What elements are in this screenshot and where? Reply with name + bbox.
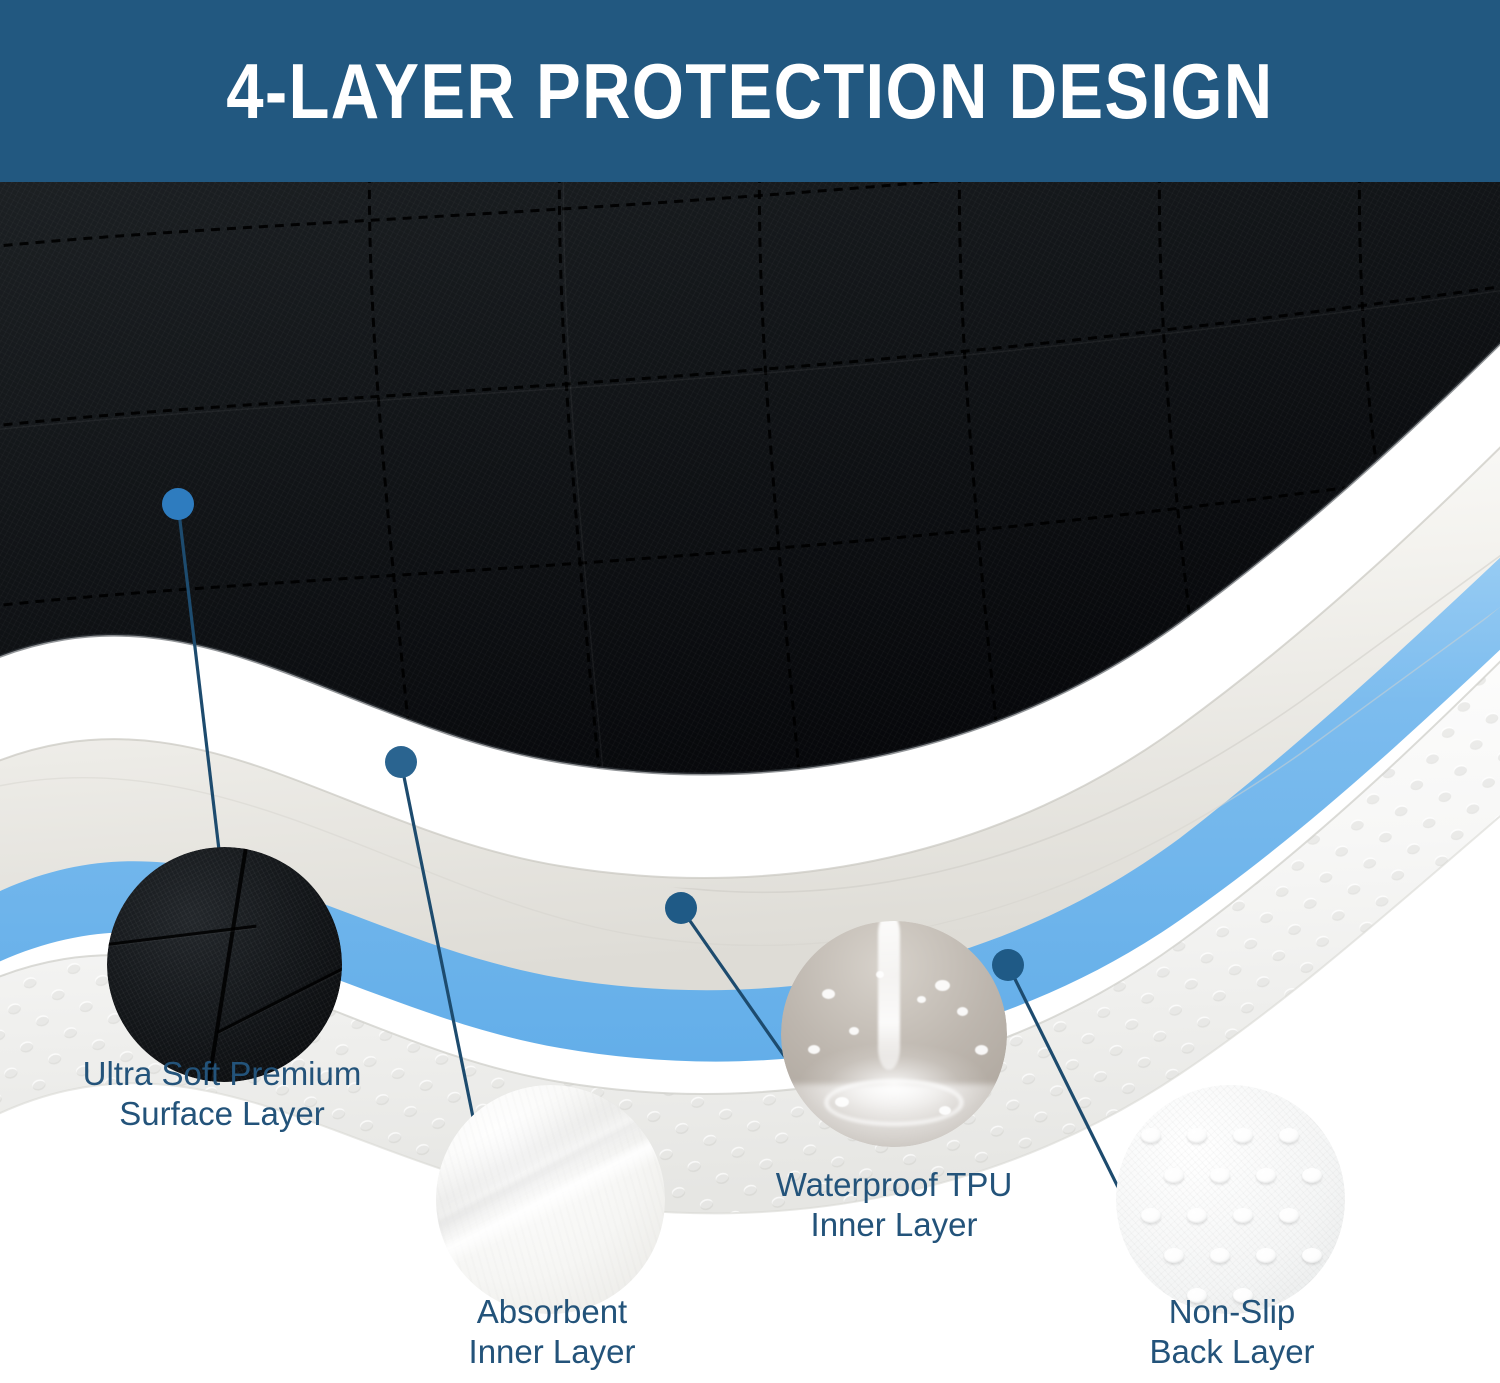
non-slip-dot <box>1187 1208 1207 1223</box>
marker-non-slip-back <box>992 949 1024 981</box>
non-slip-dot <box>1210 1248 1230 1263</box>
swatch-absorbent-inner <box>436 1085 665 1314</box>
non-slip-dot <box>1187 1128 1207 1143</box>
caption-non-slip-back: Non-Slip Back Layer <box>1062 1292 1402 1373</box>
non-slip-dot <box>1279 1128 1299 1143</box>
swatch-ultra-soft-surface <box>107 847 342 1082</box>
swatch-non-slip-back <box>1116 1085 1345 1314</box>
marker-absorbent-inner <box>385 746 417 778</box>
non-slip-dot <box>1233 1208 1253 1223</box>
non-slip-dot <box>1233 1128 1253 1143</box>
non-slip-dot <box>1141 1128 1161 1143</box>
non-slip-dot <box>1302 1248 1322 1263</box>
non-slip-dot <box>1256 1168 1276 1183</box>
non-slip-dot <box>1164 1248 1184 1263</box>
swatch-waterproof-tpu <box>781 921 1007 1147</box>
page-title: 4-LAYER PROTECTION DESIGN <box>226 46 1273 137</box>
marker-ultra-soft-surface <box>162 488 194 520</box>
caption-waterproof-tpu: Waterproof TPU Inner Layer <box>724 1165 1064 1246</box>
caption-absorbent-inner: Absorbent Inner Layer <box>382 1292 722 1373</box>
caption-ultra-soft-surface: Ultra Soft Premium Surface Layer <box>44 1054 400 1135</box>
non-slip-dot <box>1302 1168 1322 1183</box>
non-slip-dot <box>1210 1168 1230 1183</box>
non-slip-dot <box>1164 1168 1184 1183</box>
marker-waterproof-tpu <box>665 892 697 924</box>
non-slip-dot <box>1141 1208 1161 1223</box>
diagram-stage: Ultra Soft Premium Surface Layer Absorbe… <box>0 182 1500 1383</box>
non-slip-dot <box>1256 1248 1276 1263</box>
header-banner: 4-LAYER PROTECTION DESIGN <box>0 0 1500 182</box>
non-slip-dot <box>1279 1208 1299 1223</box>
